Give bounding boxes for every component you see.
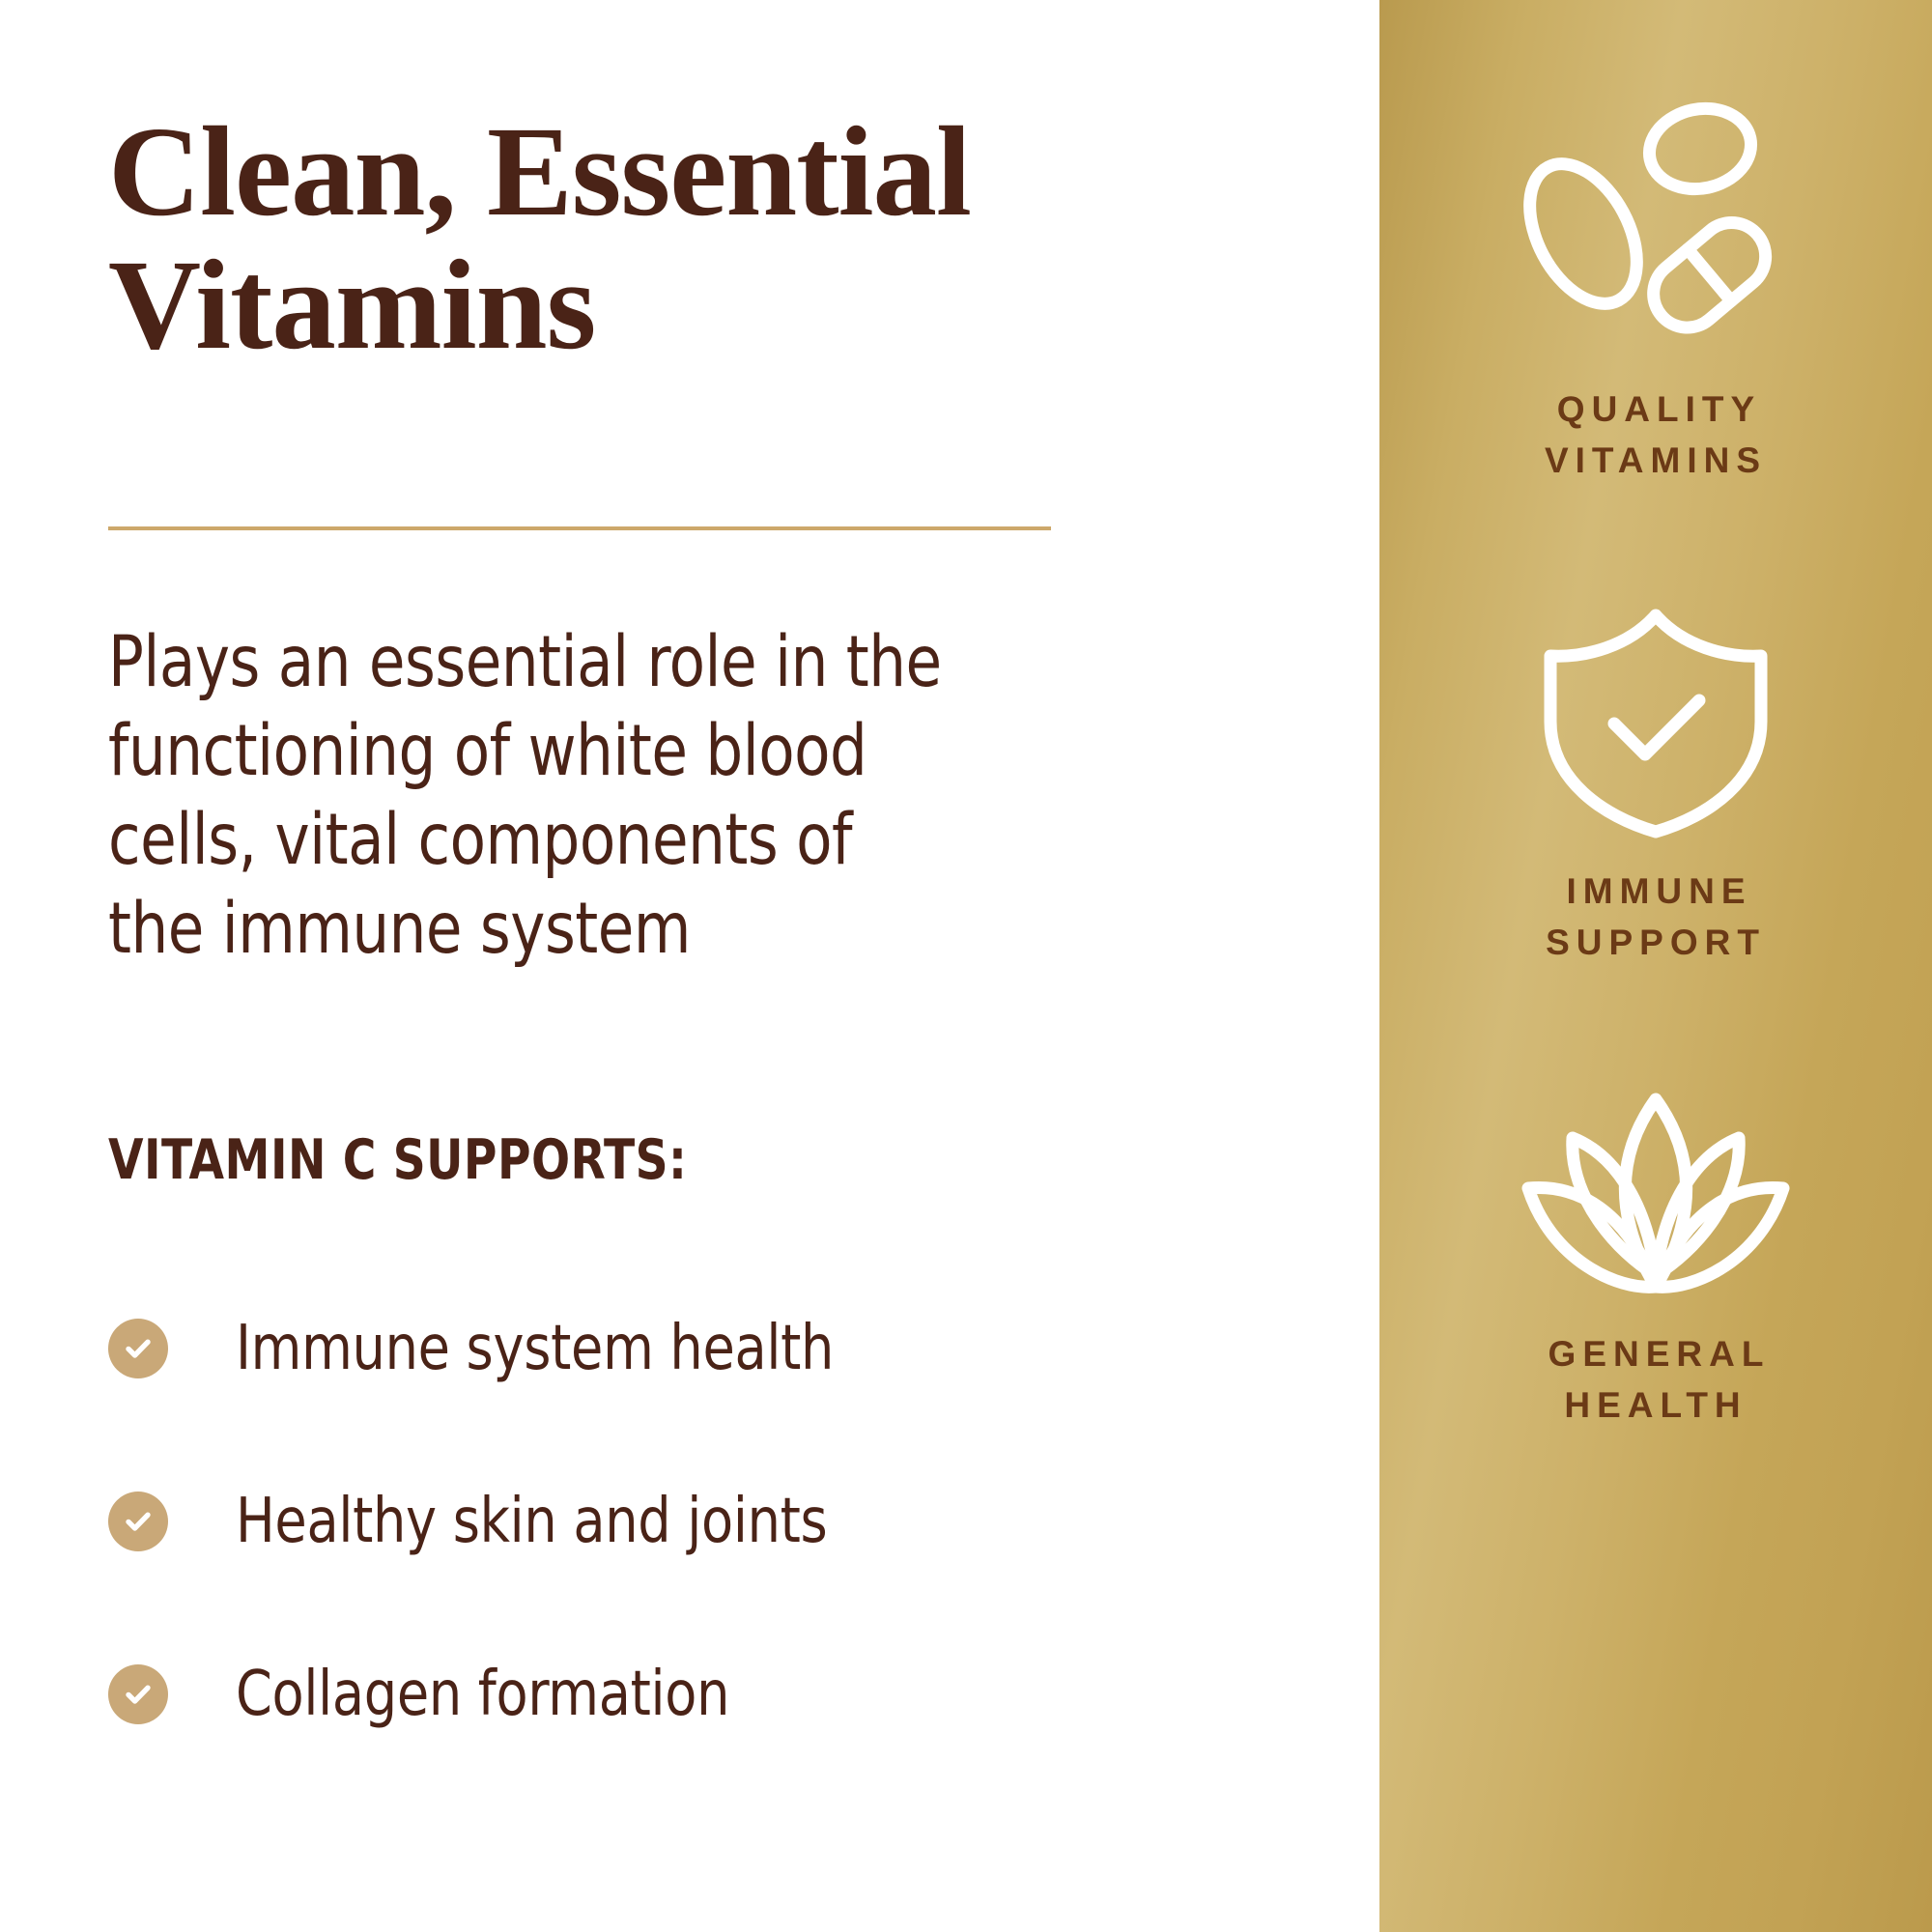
lotus-flower-icon — [1511, 1082, 1801, 1304]
title-divider-rule — [108, 526, 1051, 530]
check-circle-icon — [108, 1664, 168, 1724]
left-content-column: Clean, Essential Vitamins Plays an essen… — [0, 0, 1379, 1932]
supports-section-heading: VITAMIN C SUPPORTS: — [108, 1128, 687, 1192]
feature-label: QUALITY VITAMINS — [1545, 384, 1767, 486]
feature-general-health: GENERAL HEALTH — [1379, 1082, 1932, 1431]
list-item-label: Collagen formation — [236, 1659, 729, 1730]
check-circle-icon — [108, 1492, 168, 1551]
list-item: Healthy skin and joints — [108, 1458, 1171, 1585]
list-item: Immune system health — [108, 1285, 1171, 1412]
page-title: Clean, Essential Vitamins — [108, 104, 1248, 372]
list-item: Collagen formation — [108, 1631, 1171, 1758]
feature-quality-vitamins: QUALITY VITAMINS — [1379, 89, 1932, 486]
description-paragraph: Plays an essential role in the functioni… — [108, 618, 1061, 974]
check-circle-icon — [108, 1319, 168, 1378]
benefits-list: Immune system health Healthy skin and jo… — [108, 1285, 1171, 1804]
feature-label: GENERAL HEALTH — [1542, 1329, 1771, 1431]
shield-check-icon — [1535, 600, 1776, 841]
feature-label: IMMUNE SUPPORT — [1546, 867, 1766, 968]
pills-icon — [1511, 89, 1801, 359]
infographic-canvas: Clean, Essential Vitamins Plays an essen… — [0, 0, 1932, 1932]
list-item-label: Healthy skin and joints — [236, 1486, 827, 1557]
feature-immune-support: IMMUNE SUPPORT — [1379, 600, 1932, 968]
list-item-label: Immune system health — [236, 1313, 834, 1384]
features-gold-panel: QUALITY VITAMINS IMMUNE SUPPORT — [1379, 0, 1932, 1932]
